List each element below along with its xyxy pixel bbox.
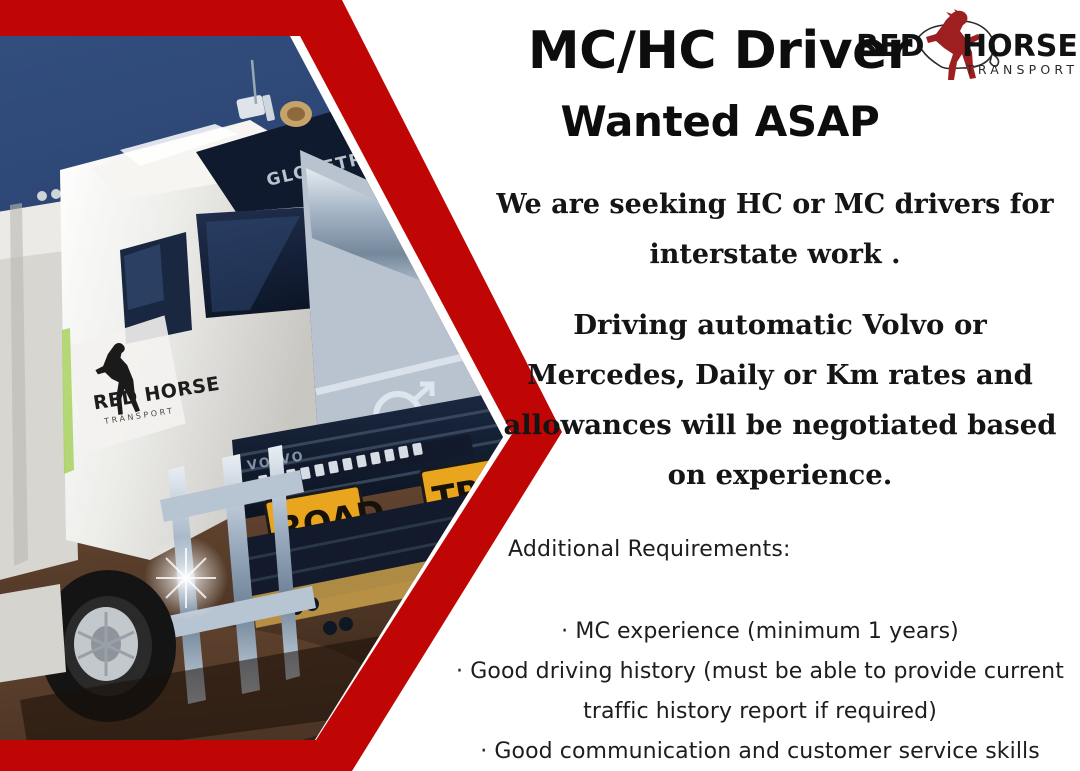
advert-text-column: RED HORSE TRANSPORT MC/HC Driver Wanted … <box>430 0 1080 771</box>
requirements-title: Additional Requirements: <box>508 537 791 562</box>
headline-secondary: Wanted ASAP <box>440 98 1000 146</box>
headline-primary: MC/HC Driver <box>440 22 1000 80</box>
requirement-item: · Good communication and customer servic… <box>450 732 1070 771</box>
requirements-list: · MC experience (minimum 1 years) · Good… <box>450 612 1070 771</box>
job-advert-poster: GLOBETROTTER RE <box>0 0 1080 771</box>
requirement-item: · MC experience (minimum 1 years) <box>450 612 1070 652</box>
body-paragraph-2: Driving automatic Volvo or Mercedes, Dai… <box>490 300 1070 500</box>
body-paragraph-1: We are seeking HC or MC drivers for inte… <box>470 180 1080 280</box>
requirement-item: · Good driving history (must be able to … <box>450 652 1070 732</box>
